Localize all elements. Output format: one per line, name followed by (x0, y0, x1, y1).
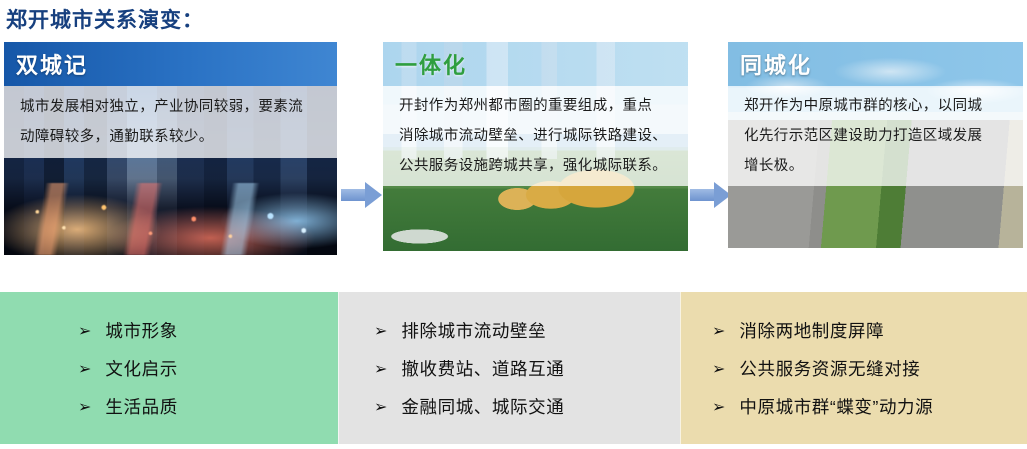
panel-divider (680, 292, 681, 444)
list-item[interactable]: ➢ 生活品质 (78, 387, 338, 425)
list-item[interactable]: ➢ 城市形象 (78, 311, 338, 349)
list-item[interactable]: ➢ 撤收费站、道路互通 (374, 349, 680, 387)
card-body-line: 开封作为郑州都市圈的重要组成，重点 (399, 91, 674, 121)
card-body: 开封作为郑州都市圈的重要组成，重点 消除城市流动壁垒、进行城际铁路建设、 公共服… (383, 86, 688, 186)
list-item-label: 生活品质 (105, 394, 177, 419)
arrow-bullet-icon: ➢ (712, 359, 725, 378)
panel-green: ➢ 城市形象 ➢ 文化启示 ➢ 生活品质 (0, 292, 338, 444)
list-item-label: 文化启示 (105, 356, 177, 381)
list-item-label: 城市形象 (105, 318, 177, 343)
list-item-label: 消除两地制度屏障 (739, 318, 884, 343)
arrow-bullet-icon: ➢ (78, 397, 91, 416)
card-body: 郑开作为中原城市群的核心，以同城 化先行示范区建设助力打造区域发展 增长极。 (728, 86, 1023, 186)
card-tongchenghua[interactable]: 同城化 郑开作为中原城市群的核心，以同城 化先行示范区建设助力打造区域发展 增长… (728, 42, 1023, 248)
card-body-line: 公共服务设施跨城共享，强化城际联系。 (399, 151, 674, 181)
list-item[interactable]: ➢ 中原城市群“蝶变”动力源 (712, 387, 1027, 425)
card-body-line: 城市发展相对独立，产业协同较弱，要素流 (20, 92, 323, 122)
list-item-label: 中原城市群“蝶变”动力源 (739, 394, 933, 419)
list-item-label: 公共服务资源无缝对接 (739, 356, 920, 381)
arrow-bullet-icon: ➢ (712, 397, 725, 416)
slide-root: 郑开城市关系演变： 双城记 城市发展相对独立，产业协同较弱，要素流 动障碍较多，… (0, 0, 1027, 449)
card-shuangchengji[interactable]: 双城记 城市发展相对独立，产业协同较弱，要素流 动障碍较多，通勤联系较少。 (4, 42, 337, 255)
card-body-line: 增长极。 (744, 151, 1009, 181)
arrow-shaft (690, 189, 716, 201)
arrow-head (365, 182, 382, 208)
panel-tan: ➢ 消除两地制度屏障 ➢ 公共服务资源无缝对接 ➢ 中原城市群“蝶变”动力源 (680, 292, 1027, 444)
list-item[interactable]: ➢ 金融同城、城际交通 (374, 387, 680, 425)
list-item[interactable]: ➢ 文化启示 (78, 349, 338, 387)
arrow-right-icon (341, 182, 383, 208)
list-item[interactable]: ➢ 排除城市流动壁垒 (374, 311, 680, 349)
arrow-right-icon (690, 182, 732, 208)
card-body-line: 消除城市流动壁垒、进行城际铁路建设、 (399, 121, 674, 151)
list-item[interactable]: ➢ 公共服务资源无缝对接 (712, 349, 1027, 387)
card-header-band: 一体化 (383, 42, 688, 86)
list-item-label: 撤收费站、道路互通 (401, 356, 564, 381)
list-item[interactable]: ➢ 消除两地制度屏障 (712, 311, 1027, 349)
arrow-bullet-icon: ➢ (374, 359, 387, 378)
arrow-bullet-icon: ➢ (712, 321, 725, 340)
card-header-label: 一体化 (383, 48, 467, 80)
arrow-bullet-icon: ➢ (78, 321, 91, 340)
arrow-bullet-icon: ➢ (374, 321, 387, 340)
list-item-label: 排除城市流动壁垒 (401, 318, 546, 343)
card-header-band: 同城化 (728, 42, 1023, 86)
cards-row: 双城记 城市发展相对独立，产业协同较弱，要素流 动障碍较多，通勤联系较少。 一体… (0, 42, 1027, 257)
list-item-label: 金融同城、城际交通 (401, 394, 564, 419)
card-body-line: 动障碍较多，通勤联系较少。 (20, 122, 323, 152)
panel-gray: ➢ 排除城市流动壁垒 ➢ 撤收费站、道路互通 ➢ 金融同城、城际交通 (338, 292, 680, 444)
card-body-line: 郑开作为中原城市群的核心，以同城 (744, 91, 1009, 121)
arrow-bullet-icon: ➢ (78, 359, 91, 378)
arrow-shaft (341, 189, 367, 201)
panel-divider (338, 292, 339, 444)
card-header-band: 双城记 (4, 42, 337, 86)
card-header-label: 双城记 (4, 48, 88, 80)
card-body-line: 化先行示范区建设助力打造区域发展 (744, 121, 1009, 151)
card-body: 城市发展相对独立，产业协同较弱，要素流 动障碍较多，通勤联系较少。 (4, 86, 337, 158)
card-header-label: 同城化 (728, 48, 812, 80)
bullet-panels-row: ➢ 城市形象 ➢ 文化启示 ➢ 生活品质 ➢ 排除城市流动壁垒 ➢ 撤收费站、道… (0, 292, 1027, 444)
page-title: 郑开城市关系演变： (6, 4, 204, 34)
card-yitihua[interactable]: 一体化 开封作为郑州都市圈的重要组成，重点 消除城市流动壁垒、进行城际铁路建设、… (383, 42, 688, 251)
arrow-bullet-icon: ➢ (374, 397, 387, 416)
